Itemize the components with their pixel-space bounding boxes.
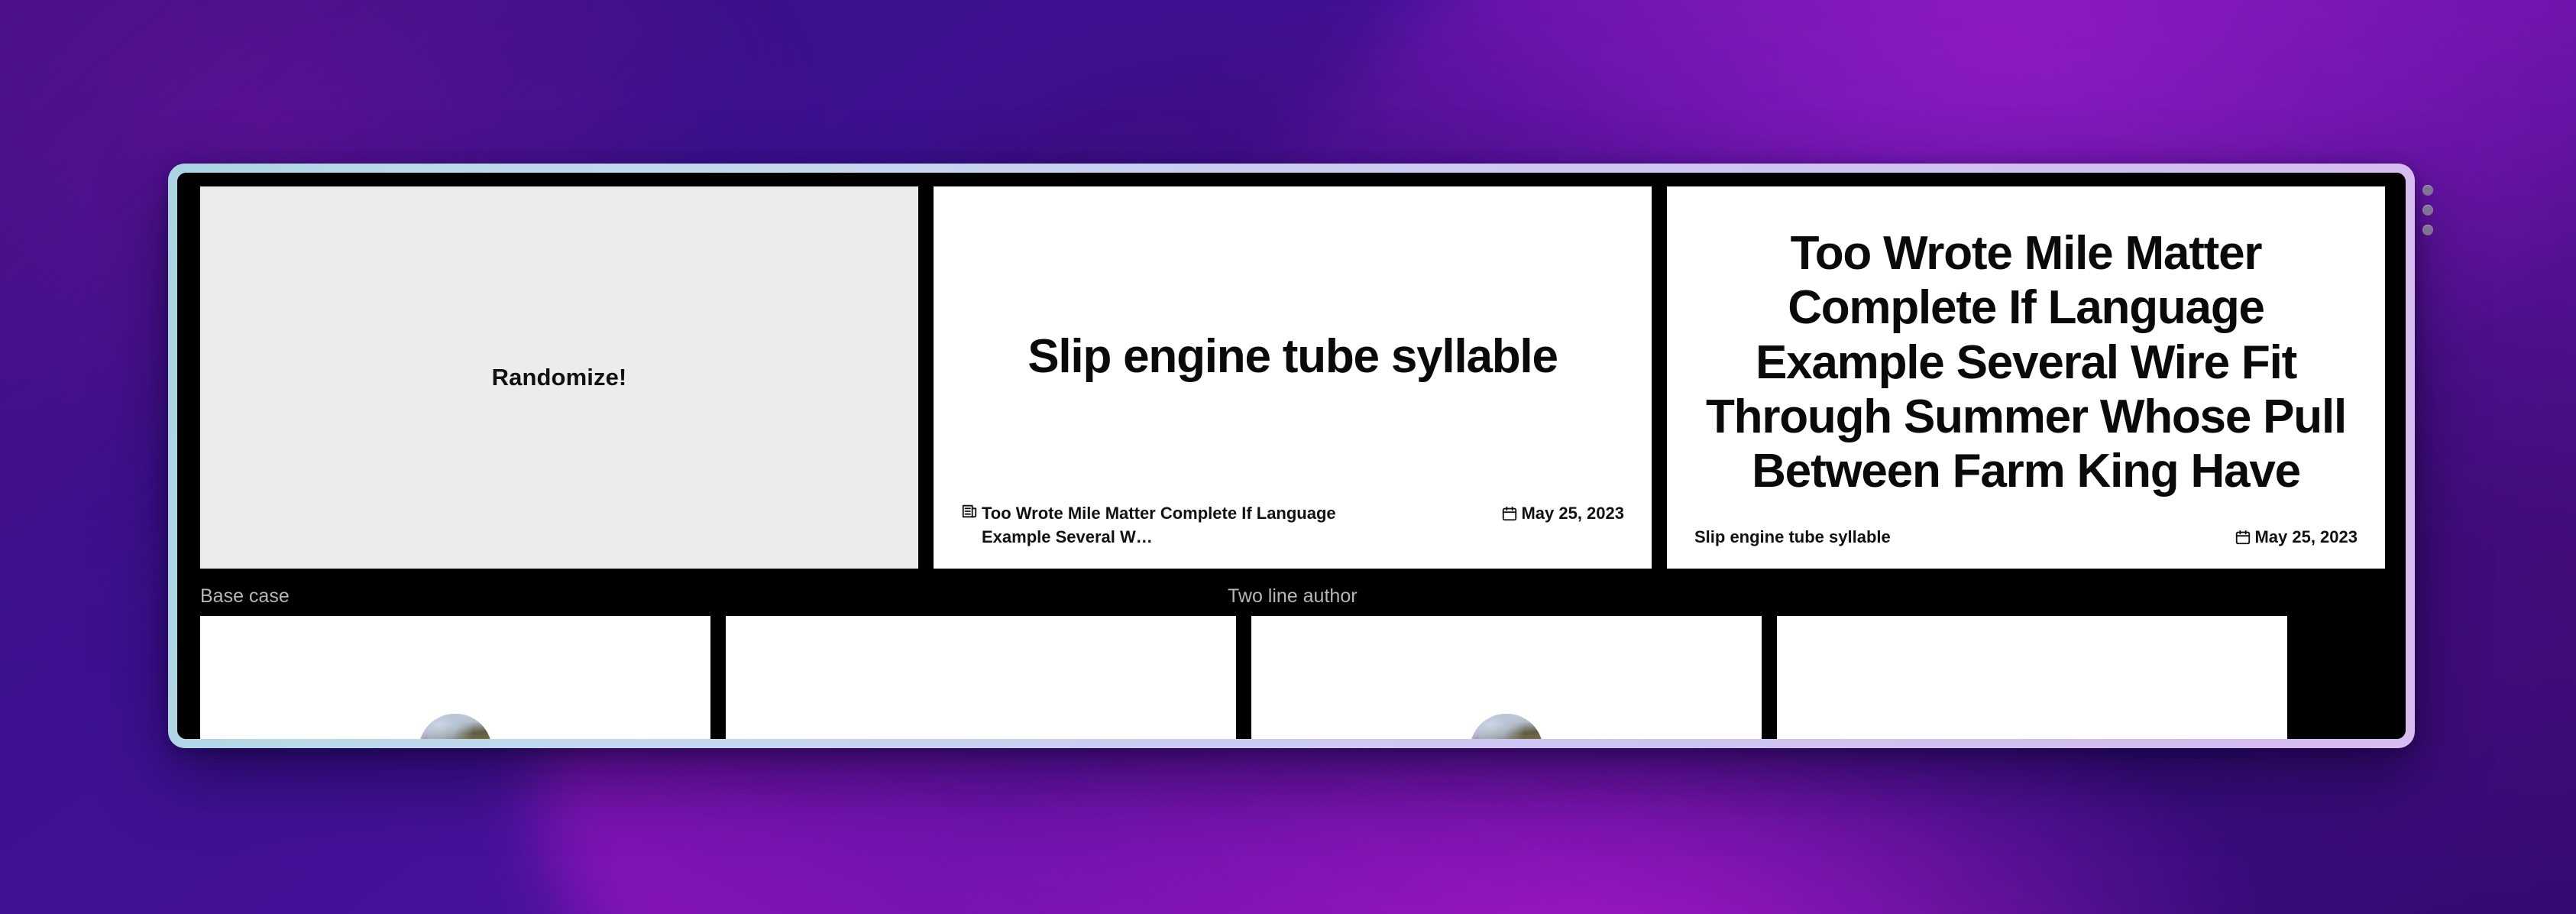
preview-card-long-title[interactable]: Too Wrote Mile Matter Complete If Langua… (1667, 186, 2385, 569)
preview-canvas: Randomize! Slip engine tube syllable (177, 173, 2406, 739)
card-date: May 25, 2023 (2235, 525, 2358, 549)
calendar-icon (2235, 529, 2251, 546)
section-label-strip: Base case Two line author (200, 569, 2406, 616)
article-icon (961, 503, 978, 520)
preview-card-avatar-2[interactable] (1251, 616, 1762, 739)
card-title: Too Wrote Mile Matter Complete If Langua… (1694, 212, 2358, 525)
card-author-text: Slip engine tube syllable (1694, 525, 1891, 549)
preview-card-base-case[interactable]: Slip engine tube syllable (934, 186, 1652, 569)
resize-grip-icon[interactable] (2421, 185, 2435, 235)
calendar-icon (1501, 505, 1518, 522)
desktop-wallpaper: Randomize! Slip engine tube syllable (0, 0, 2576, 914)
section-label-base-case: Base case (200, 585, 290, 608)
grip-dot-3 (2422, 225, 2433, 235)
section-label-two-line-author: Two line author (1228, 585, 1358, 608)
app-window: Randomize! Slip engine tube syllable (168, 164, 2415, 748)
grip-dot-1 (2422, 185, 2433, 196)
randomize-label: Randomize! (492, 364, 627, 391)
card-author-text: Too Wrote Mile Matter Complete If Langua… (982, 501, 1389, 549)
card-date: May 25, 2023 (1501, 501, 1624, 525)
bottom-card-row: Expanding to Expanding to (200, 616, 2406, 739)
window-content-area: Randomize! Slip engine tube syllable (177, 173, 2406, 739)
avatar (419, 714, 492, 739)
card-date-text: May 25, 2023 (2254, 525, 2358, 549)
preview-card-expanding-2[interactable]: Expanding to (1777, 616, 2287, 739)
grip-dot-2 (2422, 205, 2433, 216)
card-author: Too Wrote Mile Matter Complete If Langua… (961, 501, 1389, 549)
card-date-text: May 25, 2023 (1521, 501, 1624, 525)
randomize-button[interactable]: Randomize! (200, 186, 918, 569)
avatar-image (419, 714, 492, 739)
card-meta: Too Wrote Mile Matter Complete If Langua… (961, 501, 1624, 549)
top-card-row: Randomize! Slip engine tube syllable (200, 186, 2406, 569)
avatar (1470, 714, 1543, 739)
card-title: Slip engine tube syllable (961, 212, 1624, 501)
preview-card-expanding-1[interactable]: Expanding to (726, 616, 1236, 739)
avatar-image (1470, 714, 1543, 739)
preview-card-avatar-1[interactable] (200, 616, 710, 739)
card-author: Slip engine tube syllable (1694, 525, 1891, 549)
card-meta: Slip engine tube syllable (1694, 525, 2358, 549)
